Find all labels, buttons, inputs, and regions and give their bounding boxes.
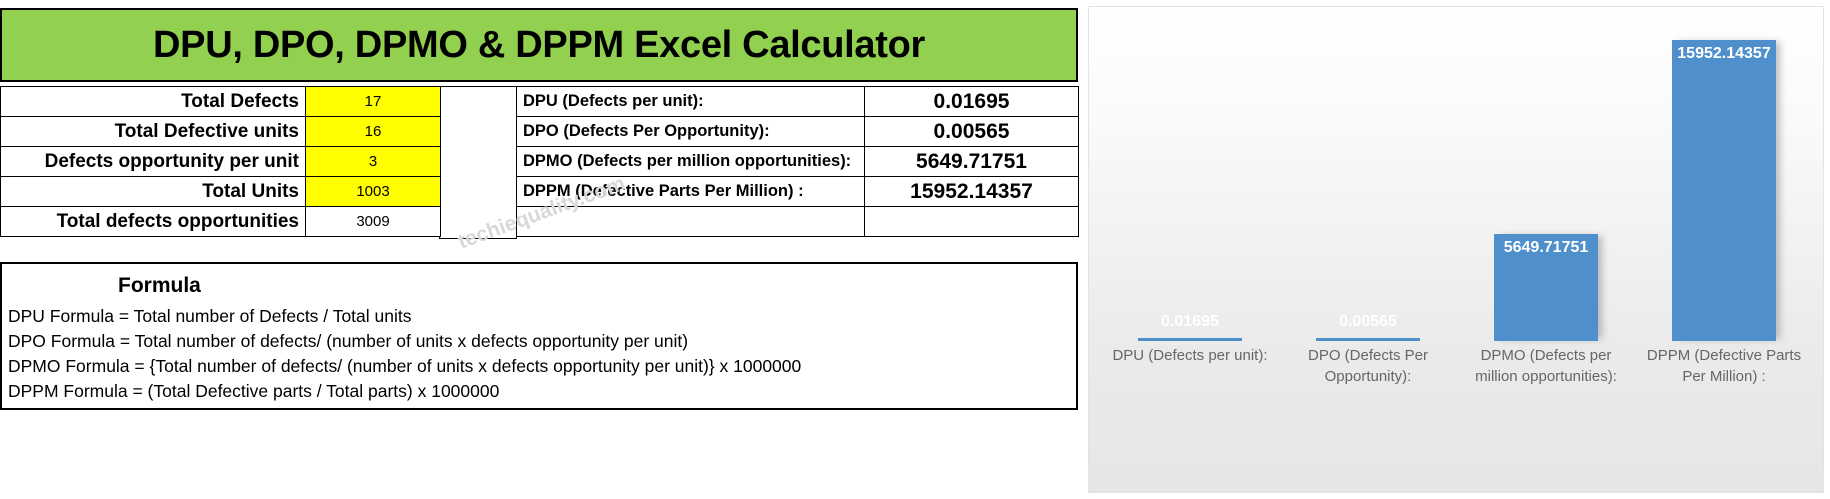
bar-slot-dpu: 0.01695: [1101, 11, 1279, 341]
input-value-total-units[interactable]: 1003: [306, 177, 441, 207]
empty-cell-left: [517, 207, 865, 237]
input-label-total-defects-opportunities: Total defects opportunities: [1, 207, 306, 237]
table-row: Total defects opportunities 3009: [1, 207, 441, 237]
formula-line-dpo: DPO Formula = Total number of defects/ (…: [8, 329, 1070, 354]
chart-bars: 0.01695 0.00565 5649.71751 15952.14357: [1101, 11, 1813, 341]
result-label-dppm: DPPM (Defective Parts Per Million) :: [517, 177, 865, 207]
table-row-empty: [517, 207, 1079, 237]
calculator-screenshot: DPU, DPO, DPMO & DPPM Excel Calculator T…: [0, 0, 1830, 499]
bar-dpu[interactable]: 0.01695: [1138, 338, 1242, 341]
result-value-dpu: 0.01695: [865, 87, 1079, 117]
result-label-dpmo: DPMO (Defects per million opportunities)…: [517, 147, 865, 177]
result-value-dppm: 15952.14357: [865, 177, 1079, 207]
bar-chart-panel[interactable]: 0.01695 0.00565 5649.71751 15952.14357: [1088, 6, 1824, 493]
input-label-total-defective-units: Total Defective units: [1, 117, 306, 147]
category-label-dppm: DPPM (Defective Parts Per Million) :: [1635, 345, 1813, 387]
input-table: Total Defects 17 Total Defective units 1…: [0, 86, 441, 237]
bar-dpo[interactable]: 0.00565: [1316, 338, 1420, 341]
result-label-dpo: DPO (Defects Per Opportunity):: [517, 117, 865, 147]
input-value-total-defects-opportunities: 3009: [306, 207, 441, 237]
table-row: Total Defective units 16: [1, 117, 441, 147]
bar-slot-dpo: 0.00565: [1279, 11, 1457, 341]
formula-line-dpmo: DPMO Formula = {Total number of defects/…: [8, 354, 1070, 379]
empty-cell-right: [865, 207, 1079, 237]
table-row: DPMO (Defects per million opportunities)…: [517, 147, 1079, 177]
formula-line-dppm: DPPM Formula = (Total Defective parts / …: [8, 379, 1070, 404]
result-label-dpu: DPU (Defects per unit):: [517, 87, 865, 117]
input-label-total-units: Total Units: [1, 177, 306, 207]
bar-slot-dppm: 15952.14357: [1635, 11, 1813, 341]
chart-plot-area: 0.01695 0.00565 5649.71751 15952.14357: [1101, 11, 1813, 341]
table-row: DPO (Defects Per Opportunity): 0.00565: [517, 117, 1079, 147]
input-value-total-defects[interactable]: 17: [306, 87, 441, 117]
chart-category-axis: DPU (Defects per unit): DPO (Defects Per…: [1101, 345, 1813, 387]
input-value-total-defective-units[interactable]: 16: [306, 117, 441, 147]
bar-label-dpu: 0.01695: [1138, 312, 1242, 331]
table-row: Total Units 1003: [1, 177, 441, 207]
bar-label-dppm: 15952.14357: [1672, 44, 1776, 63]
formula-line-dpu: DPU Formula = Total number of Defects / …: [8, 304, 1070, 329]
category-label-dpmo: DPMO (Defects per million opportunities)…: [1457, 345, 1635, 387]
page-title: DPU, DPO, DPMO & DPPM Excel Calculator: [153, 24, 925, 67]
bar-slot-dpmo: 5649.71751: [1457, 11, 1635, 341]
bar-label-dpo: 0.00565: [1316, 312, 1420, 331]
category-label-dpu: DPU (Defects per unit):: [1101, 345, 1279, 387]
input-label-total-defects: Total Defects: [1, 87, 306, 117]
table-row: Defects opportunity per unit 3: [1, 147, 441, 177]
spacer-cell: [439, 86, 517, 239]
result-value-dpo: 0.00565: [865, 117, 1079, 147]
bar-label-dpmo: 5649.71751: [1494, 238, 1598, 257]
page-title-banner: DPU, DPO, DPMO & DPPM Excel Calculator: [0, 8, 1078, 82]
formula-title: Formula: [118, 274, 1070, 298]
bar-dpmo[interactable]: 5649.71751: [1494, 234, 1598, 341]
input-value-defects-opportunity-per-unit[interactable]: 3: [306, 147, 441, 177]
spreadsheet-area: DPU, DPO, DPMO & DPPM Excel Calculator T…: [0, 0, 1080, 499]
category-label-dpo: DPO (Defects Per Opportunity):: [1279, 345, 1457, 387]
bar-dppm[interactable]: 15952.14357: [1672, 40, 1776, 341]
results-table: DPU (Defects per unit): 0.01695 DPO (Def…: [516, 86, 1079, 237]
formula-box: Formula DPU Formula = Total number of De…: [0, 262, 1078, 410]
input-label-defects-opportunity-per-unit: Defects opportunity per unit: [1, 147, 306, 177]
table-row: DPPM (Defective Parts Per Million) : 159…: [517, 177, 1079, 207]
table-row: Total Defects 17: [1, 87, 441, 117]
table-row: DPU (Defects per unit): 0.01695: [517, 87, 1079, 117]
result-value-dpmo: 5649.71751: [865, 147, 1079, 177]
